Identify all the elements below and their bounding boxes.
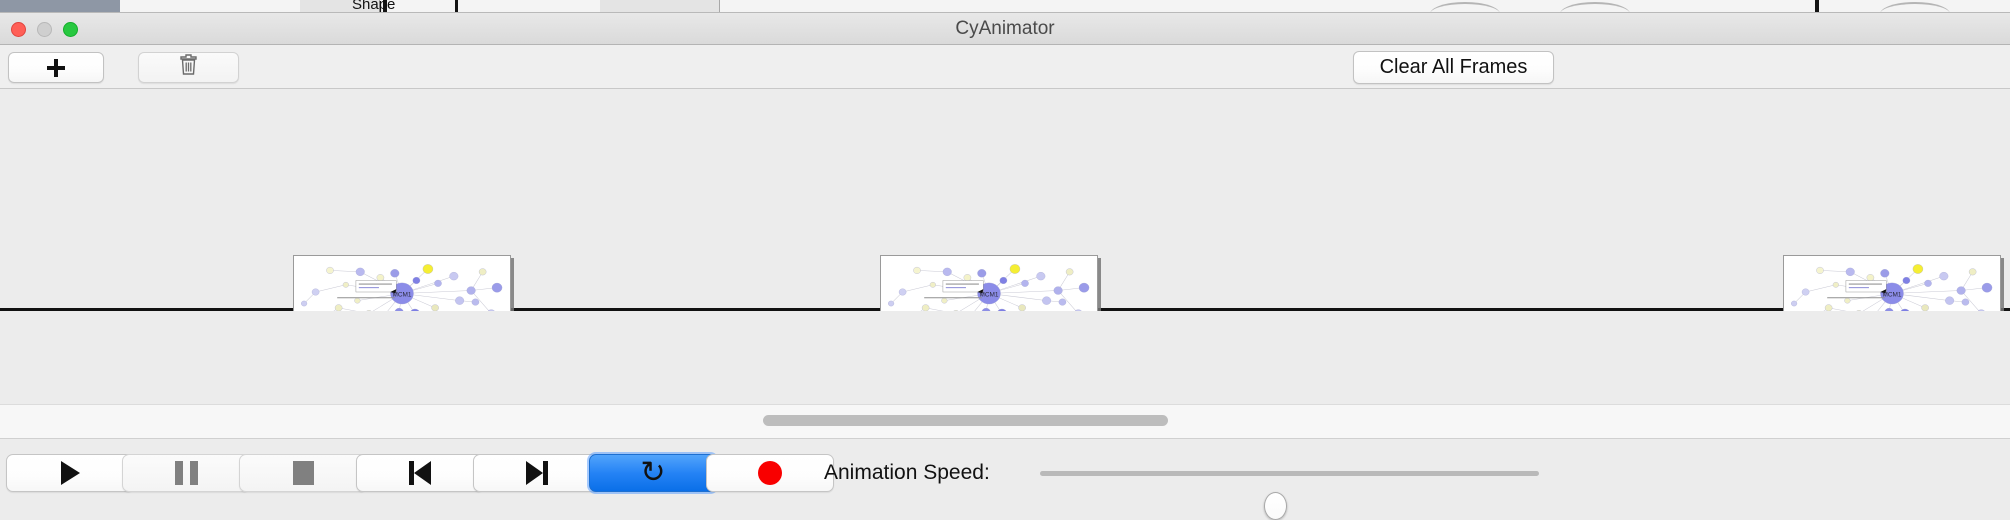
loop-button[interactable]: ↻ [589, 454, 717, 492]
clear-all-frames-button[interactable]: Clear All Frames [1353, 51, 1554, 84]
clear-all-frames-label: Clear All Frames [1380, 56, 1528, 79]
record-icon [758, 461, 782, 485]
animation-speed-slider-thumb[interactable] [1264, 492, 1287, 520]
background-curve [1560, 2, 1630, 13]
plus-icon [45, 57, 67, 79]
svg-text:MCM1: MCM1 [1882, 291, 1901, 298]
add-frame-button[interactable] [8, 52, 104, 83]
stop-button[interactable] [239, 454, 367, 492]
pause-icon [175, 461, 198, 485]
svg-text:MCM1: MCM1 [979, 291, 998, 298]
trash-icon [179, 54, 198, 82]
animation-speed-label: Animation Speed: [824, 454, 990, 492]
background-sidebar [0, 0, 120, 13]
background-curve [1430, 2, 1500, 13]
timeline-scrollbar[interactable] [0, 404, 2010, 439]
skip-forward-icon [526, 461, 548, 485]
background-mark [1815, 0, 1819, 13]
frame-toolbar: Clear All Frames [0, 45, 2010, 89]
background-curve [1880, 2, 1950, 13]
frame-thumbnail-1[interactable]: MCM1 [293, 255, 511, 311]
skip-back-icon [409, 461, 431, 485]
previous-frame-button[interactable] [356, 454, 484, 492]
next-frame-button[interactable] [473, 454, 601, 492]
delete-frame-button[interactable] [138, 52, 239, 83]
animation-speed-slider[interactable] [1040, 471, 1539, 476]
playback-control-bar: ↻ Animation Speed: [0, 439, 2010, 510]
play-icon [61, 461, 80, 485]
stop-icon [293, 461, 314, 485]
play-button[interactable] [6, 454, 134, 492]
background-window-strip: Shape [0, 0, 2010, 13]
frame-timeline[interactable]: 12131415161718 MCM1MCM1MCM1 Seconds [0, 89, 2010, 311]
frame-thumbnail-3[interactable]: MCM1 [1783, 255, 2001, 311]
background-window-label: Shape [352, 0, 395, 13]
pause-button[interactable] [122, 454, 250, 492]
window-titlebar: CyAnimator [0, 13, 2010, 45]
svg-text:MCM1: MCM1 [392, 291, 411, 298]
record-button[interactable] [706, 454, 834, 492]
timeline-scrollbar-thumb[interactable] [763, 415, 1168, 426]
window-title: CyAnimator [0, 13, 2010, 45]
loop-icon: ↻ [640, 458, 665, 488]
frame-thumbnail-2[interactable]: MCM1 [880, 255, 1098, 311]
background-tab [600, 0, 720, 13]
background-mark [455, 0, 458, 13]
